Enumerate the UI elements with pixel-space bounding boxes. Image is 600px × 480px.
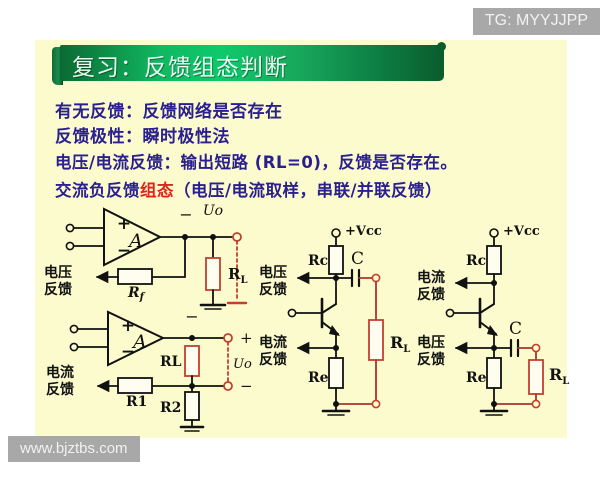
slide-screenshot: 复习：反馈组态判断 有无反馈：反馈网络是否存在 反馈极性：瞬时极性法 电压/电流… bbox=[0, 0, 600, 480]
uo-label-2: Uo bbox=[233, 357, 252, 372]
supply-terminal-vcc bbox=[332, 229, 340, 237]
feedback-note-1-line2: 反馈 bbox=[44, 281, 72, 298]
r2-label: R2 bbox=[160, 400, 181, 416]
vcc-label-2: +Vcc bbox=[503, 224, 540, 239]
site-watermark: www.bjztbs.com bbox=[8, 436, 140, 462]
base-input-terminal-2 bbox=[446, 309, 453, 316]
re-label-2: Re bbox=[466, 370, 487, 386]
resistor-rf bbox=[118, 269, 152, 284]
terminal-plus-label: + bbox=[240, 329, 253, 347]
cap-label: C bbox=[351, 249, 364, 269]
opamp2-a-label: A bbox=[131, 331, 147, 353]
rl-label: RL bbox=[228, 265, 248, 286]
rl-label-4: RL bbox=[549, 365, 569, 387]
resistor-rl-4 bbox=[529, 360, 543, 394]
rl-label-3: RL bbox=[390, 333, 410, 355]
feedback-note-5-line1: 电流 bbox=[417, 269, 445, 286]
r1-label: R1 bbox=[126, 394, 147, 410]
opamp-a-label: A bbox=[127, 230, 143, 252]
circuit-opamp-current-feedback bbox=[70, 312, 232, 431]
circuit-bjt-collector-output bbox=[288, 229, 383, 415]
feedback-note-4-line2: 反馈 bbox=[259, 351, 287, 368]
input-terminal-minus bbox=[66, 242, 73, 249]
resistor-rc bbox=[329, 246, 343, 274]
uo-label: Uo bbox=[203, 203, 223, 219]
rc-label: Rc bbox=[308, 253, 328, 269]
feedback-note-2-line2: 反馈 bbox=[46, 381, 74, 398]
input-terminal-plus-2 bbox=[70, 325, 77, 332]
cap-label-2: C bbox=[509, 319, 522, 339]
resistor-rc-2 bbox=[487, 246, 501, 274]
resistor-r1 bbox=[118, 378, 152, 393]
resistor-rl-2 bbox=[185, 346, 199, 376]
resistor-re-2 bbox=[487, 358, 501, 388]
input-terminal-minus-2 bbox=[70, 343, 77, 350]
feedback-note-1-line1: 电压 bbox=[44, 264, 72, 281]
rl-label-2: RL bbox=[160, 354, 182, 370]
rf-label: Rf bbox=[127, 285, 146, 303]
feedback-note-3-line2: 反馈 bbox=[259, 281, 287, 298]
vcc-label: +Vcc bbox=[345, 224, 382, 239]
supply-terminal-vcc-2 bbox=[490, 229, 498, 237]
resistor-rl bbox=[206, 258, 220, 290]
circuit-bjt-emitter-output bbox=[446, 229, 543, 415]
resistor-rl-3 bbox=[369, 320, 383, 360]
feedback-note-6-line2: 反馈 bbox=[417, 351, 445, 368]
feedback-note-4-line1: 电流 bbox=[259, 334, 287, 351]
telegram-watermark: TG: MYYJJPP bbox=[473, 8, 600, 35]
circuit-diagrams: + − A − Uo RL Rf 电压 反馈 + − A − + − Uo RL… bbox=[0, 0, 600, 480]
output-minus-label: − bbox=[179, 205, 192, 224]
feedback-note-2-line1: 电流 bbox=[46, 364, 74, 381]
output2-minus-label: − bbox=[185, 307, 198, 326]
feedback-note-3-line1: 电压 bbox=[259, 264, 287, 281]
resistor-r2 bbox=[185, 392, 199, 420]
re-label: Re bbox=[308, 370, 329, 386]
feedback-note-5-line2: 反馈 bbox=[417, 286, 445, 303]
rc-label-2: Rc bbox=[466, 253, 486, 269]
input-terminal-plus bbox=[66, 224, 73, 231]
resistor-re bbox=[329, 358, 343, 388]
terminal-minus-label: − bbox=[240, 377, 253, 395]
base-input-terminal bbox=[288, 309, 295, 316]
circuit-opamp-voltage-feedback bbox=[66, 209, 246, 309]
feedback-note-6-line1: 电压 bbox=[417, 334, 445, 351]
